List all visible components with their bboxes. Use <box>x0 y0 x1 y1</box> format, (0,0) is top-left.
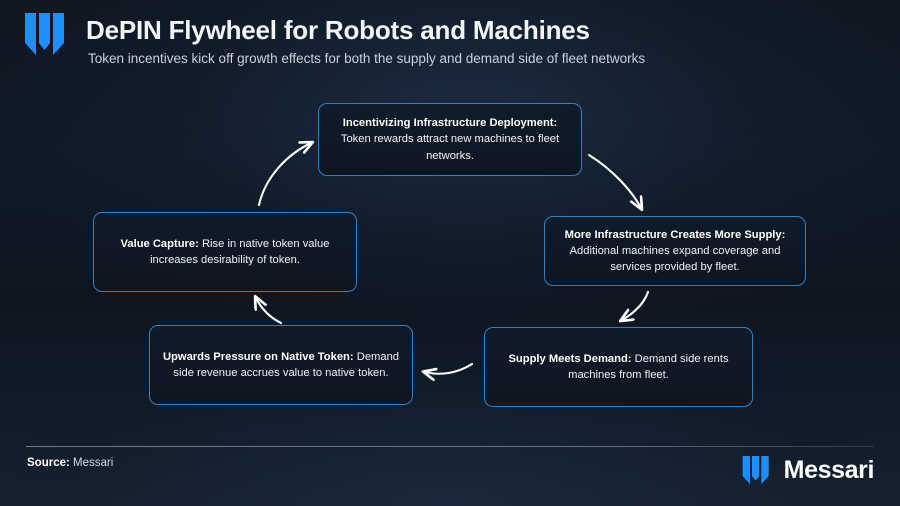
page-subtitle: Token incentives kick off growth effects… <box>88 51 645 66</box>
arrow-upwards-pressure-to-value-capture <box>256 298 281 323</box>
page-title: DePIN Flywheel for Robots and Machines <box>86 15 590 46</box>
flywheel-node-supply-meets-demand: Supply Meets Demand: Demand side rents m… <box>484 327 753 407</box>
messari-m-logo-icon <box>741 456 775 484</box>
flywheel-node-incentivizing-infrastructure-deployment: Incentivizing Infrastructure Deployment:… <box>318 103 582 176</box>
flywheel-node-text: More Infrastructure Creates More Supply:… <box>557 227 793 276</box>
flywheel-node-heading: Value Capture: <box>121 238 199 250</box>
flywheel-node-heading: Incentivizing Infrastructure Deployment: <box>343 117 557 129</box>
flywheel-node-upwards-pressure-on-native-token: Upwards Pressure on Native Token: Demand… <box>149 325 413 405</box>
footer-logo: Messari <box>741 455 874 485</box>
source-label: Source: <box>27 457 70 469</box>
footer-wordmark: Messari <box>784 458 874 483</box>
source-value: Messari <box>73 457 113 469</box>
flywheel-node-heading: Supply Meets Demand: <box>508 353 631 365</box>
header: DePIN Flywheel for Robots and Machines T… <box>0 0 900 86</box>
flywheel-node-heading: Upwards Pressure on Native Token: <box>163 351 354 363</box>
flywheel-node-more-infrastructure-creates-more-supply: More Infrastructure Creates More Supply:… <box>544 216 806 286</box>
arrow-value-capture-to-incentivizing <box>259 143 311 205</box>
flywheel-node-text: Value Capture: Rise in native token valu… <box>106 236 344 268</box>
flywheel-node-text: Supply Meets Demand: Demand side rents m… <box>497 351 740 383</box>
source-attribution: Source: Messari <box>27 457 113 469</box>
flywheel-node-body: Token rewards attract new machines to fl… <box>341 133 559 161</box>
arrow-supply-meets-demand-to-upwards-pressure <box>425 364 472 374</box>
arrow-incentivizing-to-more-infrastructure <box>589 155 641 208</box>
flywheel-node-heading: More Infrastructure Creates More Supply: <box>565 229 786 241</box>
flywheel-node-text: Incentivizing Infrastructure Deployment:… <box>331 115 569 164</box>
flywheel-node-text: Upwards Pressure on Native Token: Demand… <box>162 349 400 381</box>
footer-divider <box>26 446 874 447</box>
messari-m-logo-icon <box>25 13 71 55</box>
flywheel-node-value-capture: Value Capture: Rise in native token valu… <box>93 212 357 292</box>
infographic-canvas: DePIN Flywheel for Robots and Machines T… <box>0 0 900 506</box>
arrow-more-infrastructure-to-supply-meets-demand <box>622 292 648 320</box>
flywheel-node-body: Additional machines expand coverage and … <box>570 245 781 273</box>
